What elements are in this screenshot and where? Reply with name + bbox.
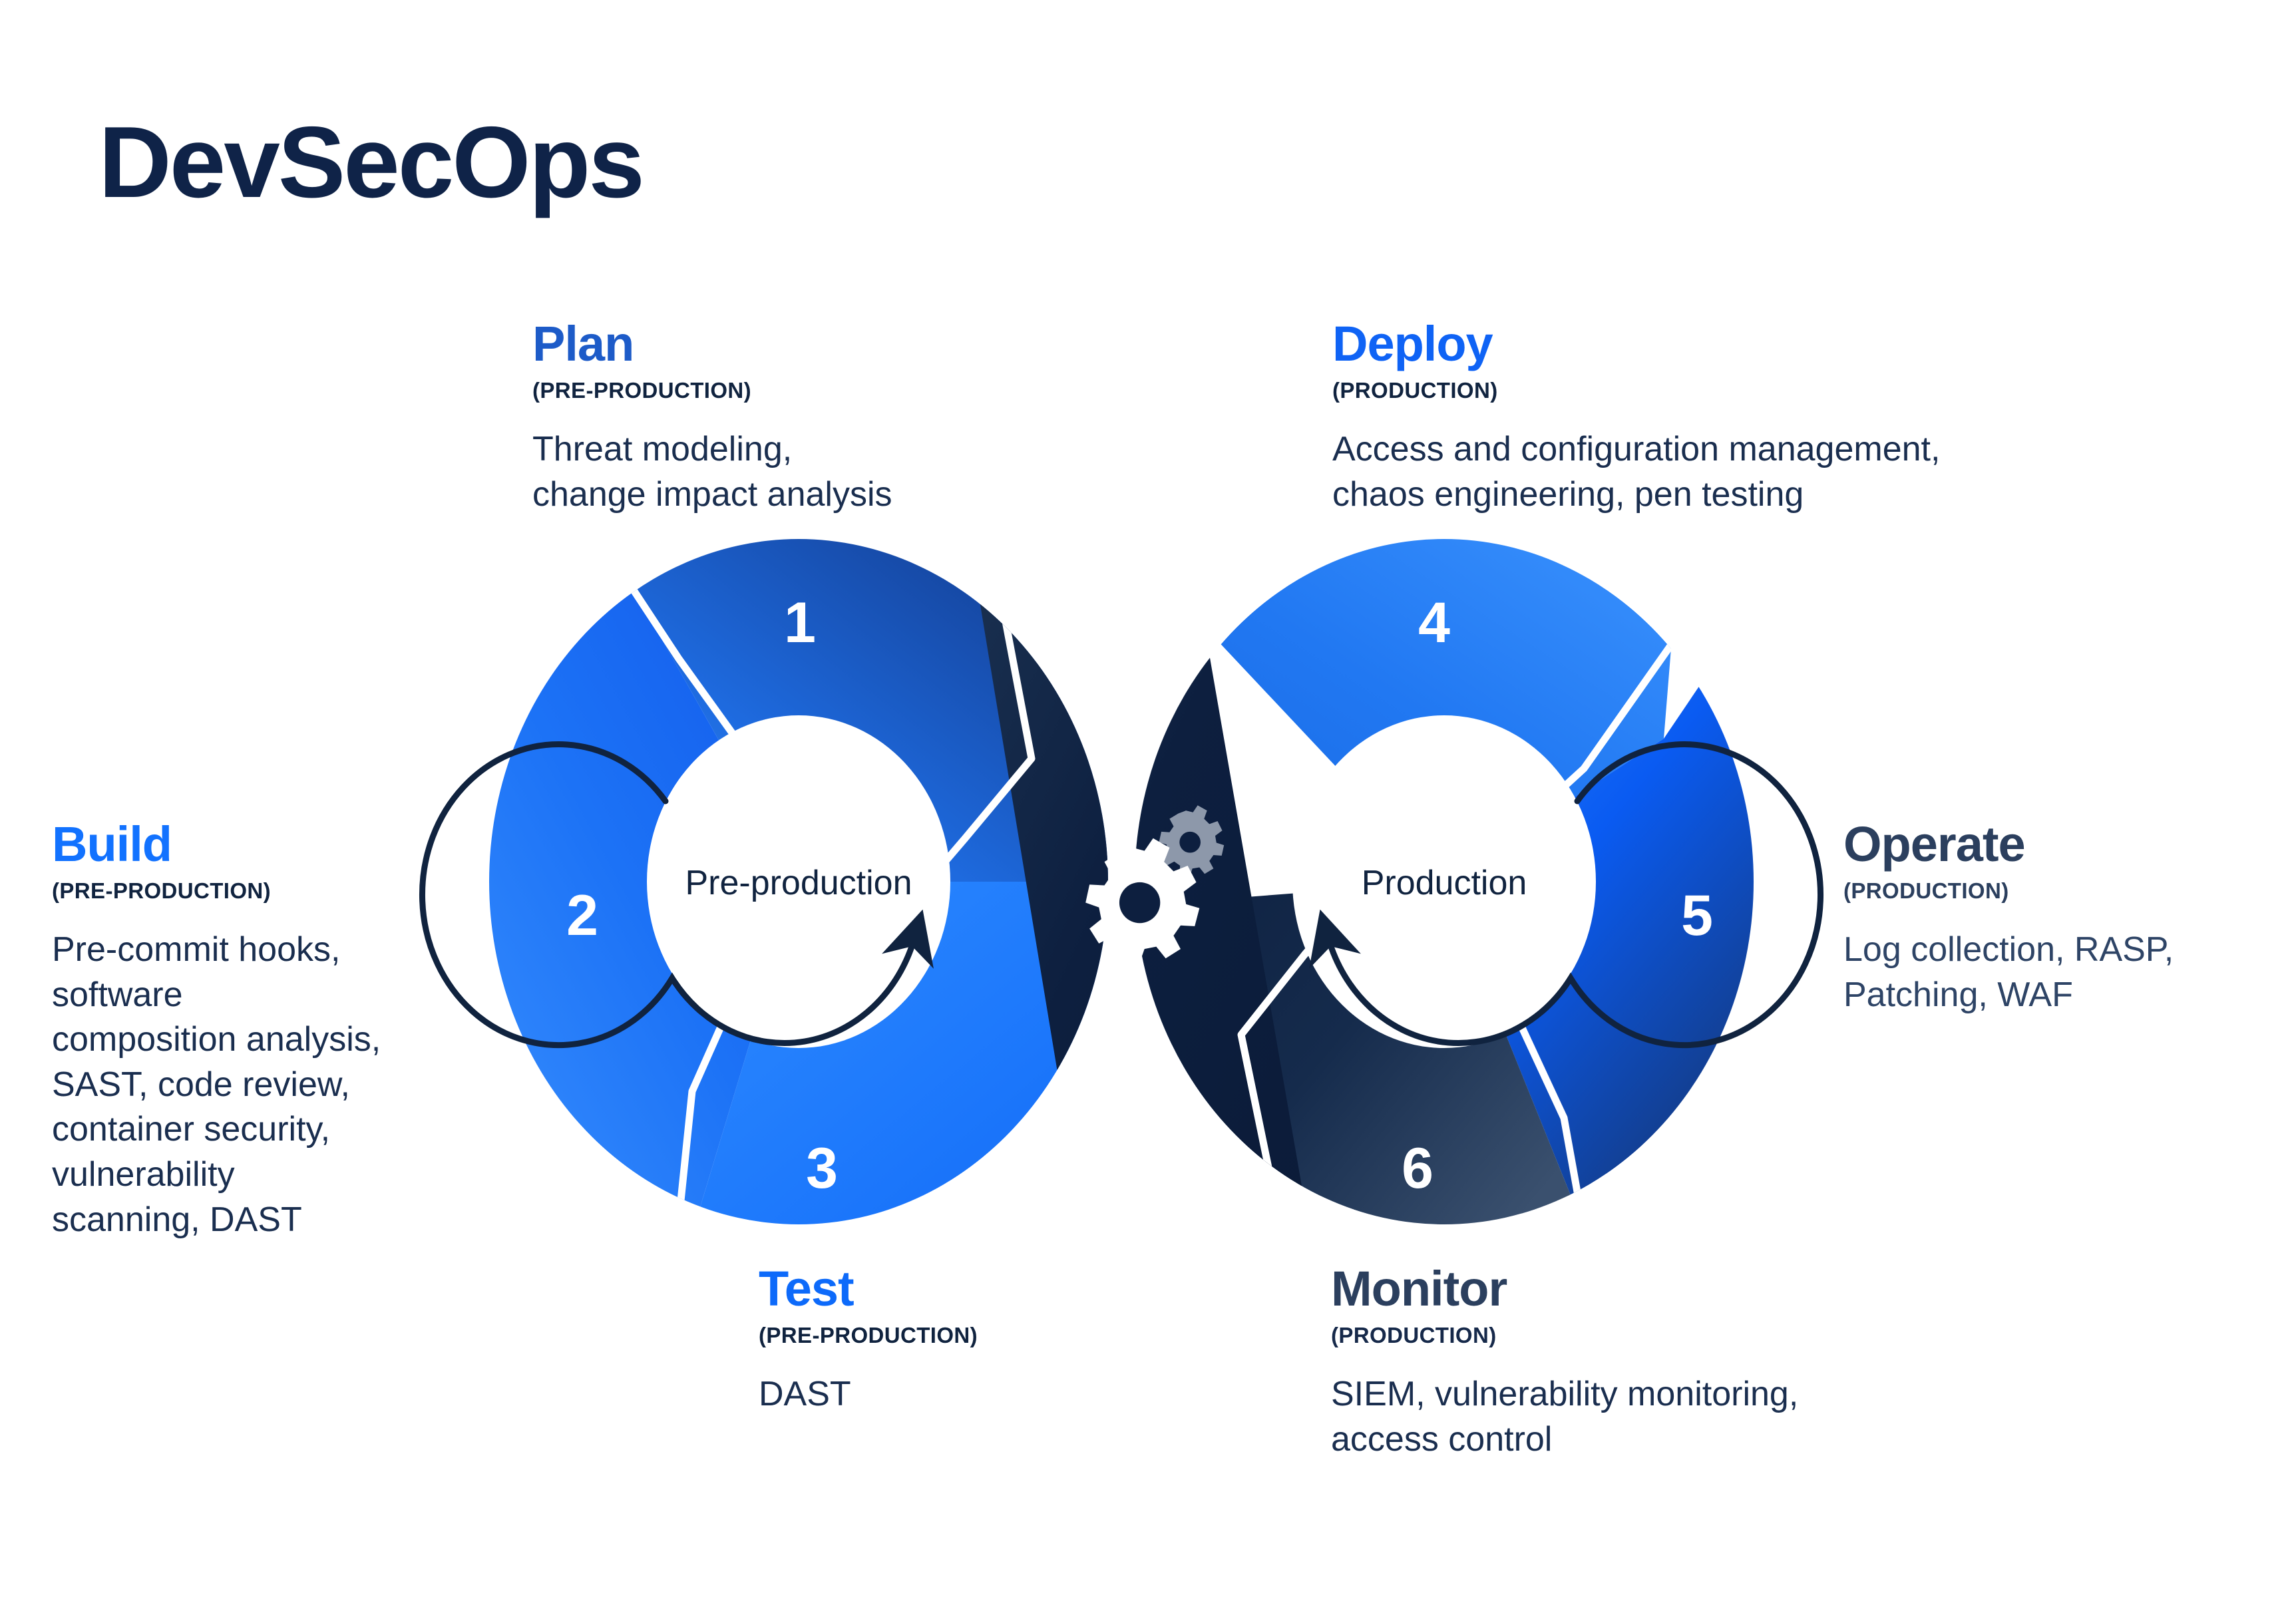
stage-monitor: Monitor (PRODUCTION) SIEM, vulnerability… [1331, 1264, 1798, 1462]
stage-test-description: DAST [759, 1372, 978, 1417]
devsecops-infinity-diagram: Pre-production Production 1 2 3 4 5 6 [459, 539, 1784, 1224]
stage-build-environment: (PRE-PRODUCTION) [52, 878, 518, 904]
diagram-canvas: DevSecOps [0, 0, 2296, 1601]
stage-deploy-title: Deploy [1332, 319, 1940, 369]
stage-test: Test (PRE-PRODUCTION) DAST [759, 1264, 978, 1417]
segment-number-1: 1 [784, 591, 816, 655]
stage-build-description: Pre-commit hooks, software composition a… [52, 928, 518, 1242]
right-hub-label: Production [1362, 864, 1527, 902]
left-hub-label: Pre-production [685, 864, 912, 902]
stage-plan: Plan (PRE-PRODUCTION) Threat modeling, c… [532, 319, 892, 517]
stage-build: Build (PRE-PRODUCTION) Pre-commit hooks,… [52, 820, 518, 1242]
stage-monitor-description: SIEM, vulnerability monitoring, access c… [1331, 1372, 1798, 1462]
segment-number-6: 6 [1402, 1137, 1434, 1200]
stage-operate-description: Log collection, RASP, Patching, WAF [1843, 928, 2269, 1017]
stage-operate: Operate (PRODUCTION) Log collection, RAS… [1843, 820, 2269, 1017]
segment-number-5: 5 [1681, 884, 1713, 948]
stage-build-title: Build [52, 820, 518, 869]
stage-plan-description: Threat modeling, change impact analysis [532, 427, 892, 517]
stage-plan-title: Plan [532, 319, 892, 369]
stage-test-title: Test [759, 1264, 978, 1314]
segment-number-4: 4 [1418, 591, 1450, 655]
stage-deploy-environment: (PRODUCTION) [1332, 378, 1940, 403]
stage-operate-environment: (PRODUCTION) [1843, 878, 2269, 904]
stage-deploy: Deploy (PRODUCTION) Access and configura… [1332, 319, 1940, 517]
stage-test-environment: (PRE-PRODUCTION) [759, 1323, 978, 1348]
stage-monitor-environment: (PRODUCTION) [1331, 1323, 1798, 1348]
stage-deploy-description: Access and configuration management, cha… [1332, 427, 1940, 517]
stage-monitor-title: Monitor [1331, 1264, 1798, 1314]
stage-plan-environment: (PRE-PRODUCTION) [532, 378, 892, 403]
segment-number-2: 2 [566, 884, 598, 948]
page-title: DevSecOps [98, 112, 643, 213]
segment-number-3: 3 [806, 1137, 838, 1200]
stage-operate-title: Operate [1843, 820, 2269, 869]
